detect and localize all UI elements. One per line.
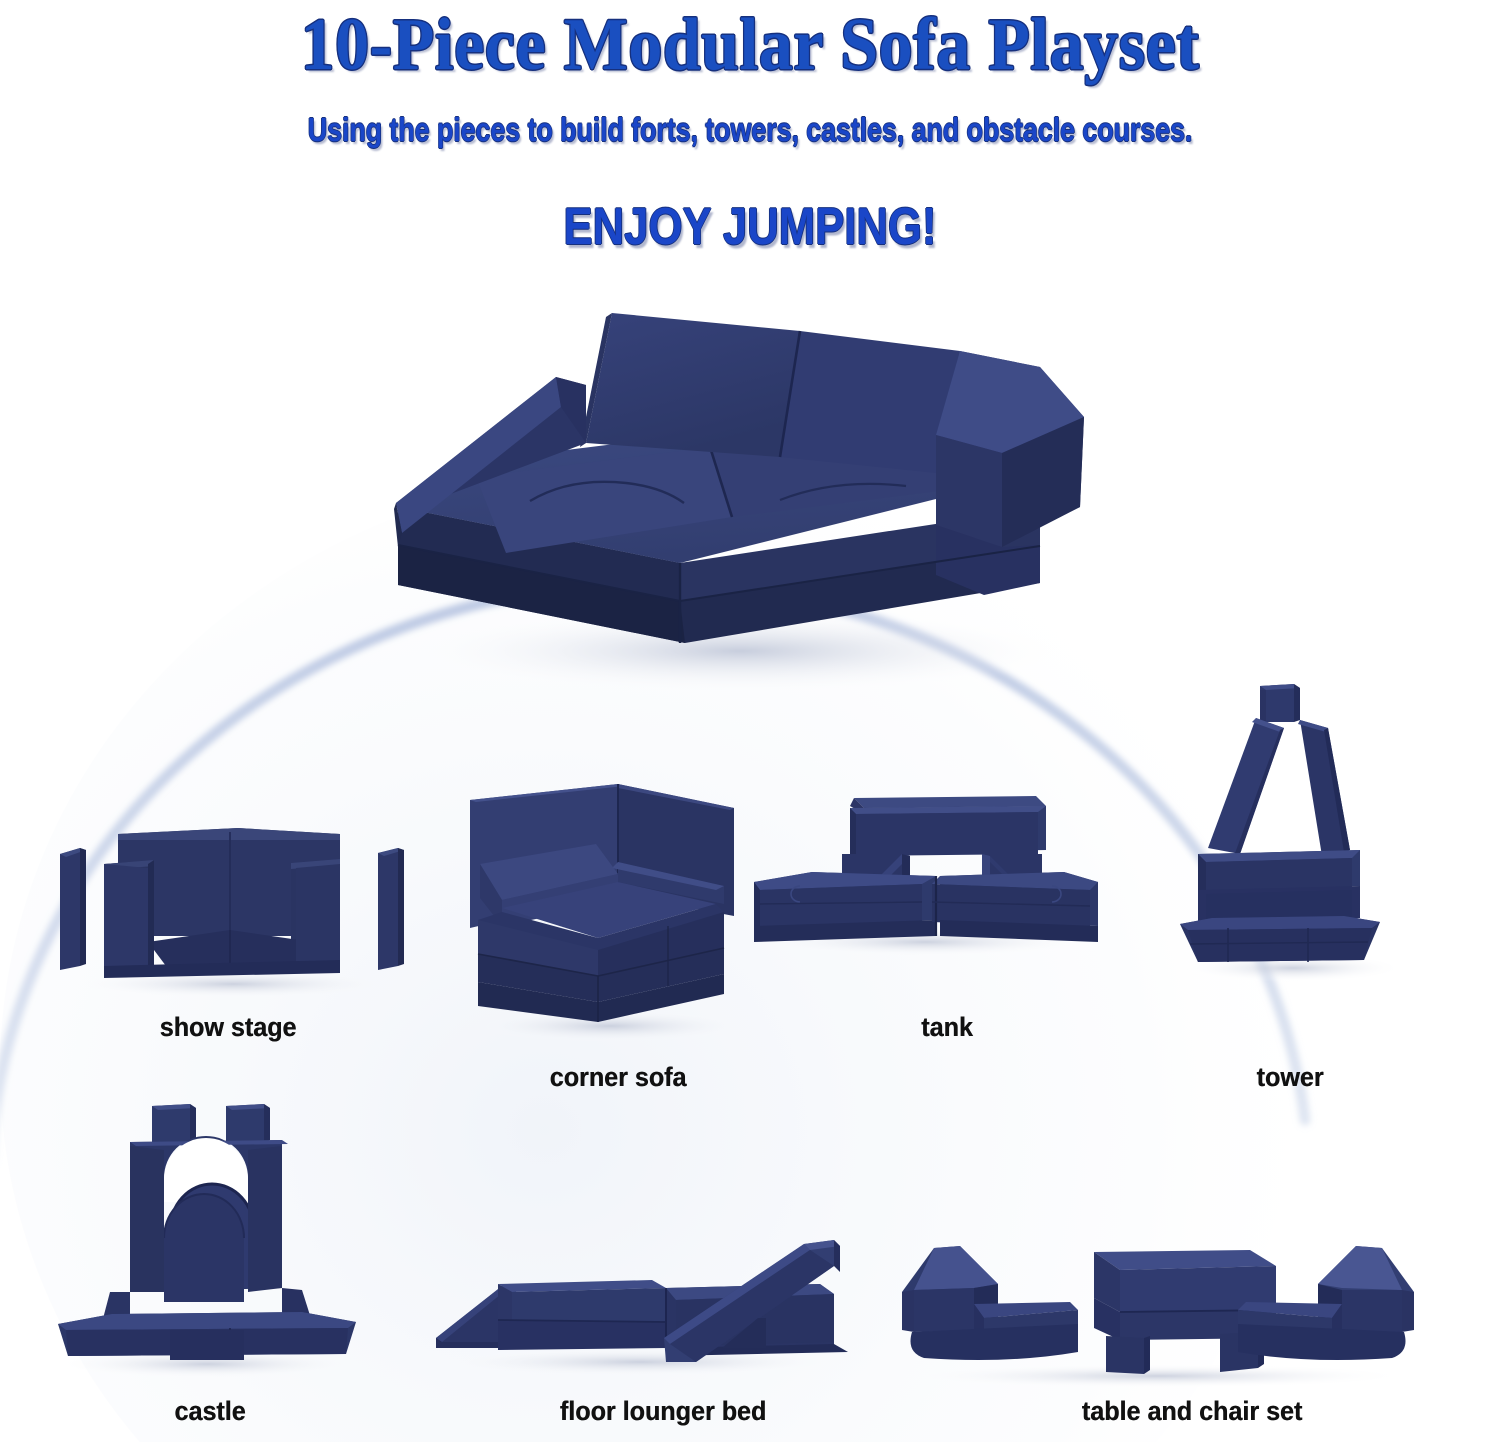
config-show-stage-illustration [48, 818, 418, 1003]
config-label-castle: castle [174, 1396, 245, 1427]
cta-headline: ENJOY JUMPING! [120, 195, 1380, 259]
page-title: 10-Piece Modular Sofa Playset [60, 2, 1440, 88]
hero-sofa-illustration [380, 295, 1100, 705]
config-tank-illustration [750, 786, 1100, 966]
config-label-tank: tank [921, 1012, 973, 1043]
page-subtitle: Using the pieces to build forts, towers,… [135, 108, 1365, 152]
product-infographic: 10-Piece Modular Sofa Playset Using the … [0, 0, 1500, 1442]
config-floor-lounger-bed-illustration [420, 1222, 860, 1382]
config-label-floor-lounger-bed: floor lounger bed [560, 1396, 766, 1427]
config-label-show-stage: show stage [160, 1012, 297, 1043]
config-castle-illustration [52, 1098, 362, 1388]
config-label-tower: tower [1257, 1062, 1324, 1093]
config-label-corner-sofa: corner sofa [550, 1062, 687, 1093]
config-tower-illustration [1168, 672, 1418, 1012]
config-table-and-chair-set-illustration [888, 1240, 1428, 1390]
config-corner-sofa-illustration [458, 778, 768, 1048]
config-label-table-and-chair-set: table and chair set [1082, 1396, 1302, 1427]
